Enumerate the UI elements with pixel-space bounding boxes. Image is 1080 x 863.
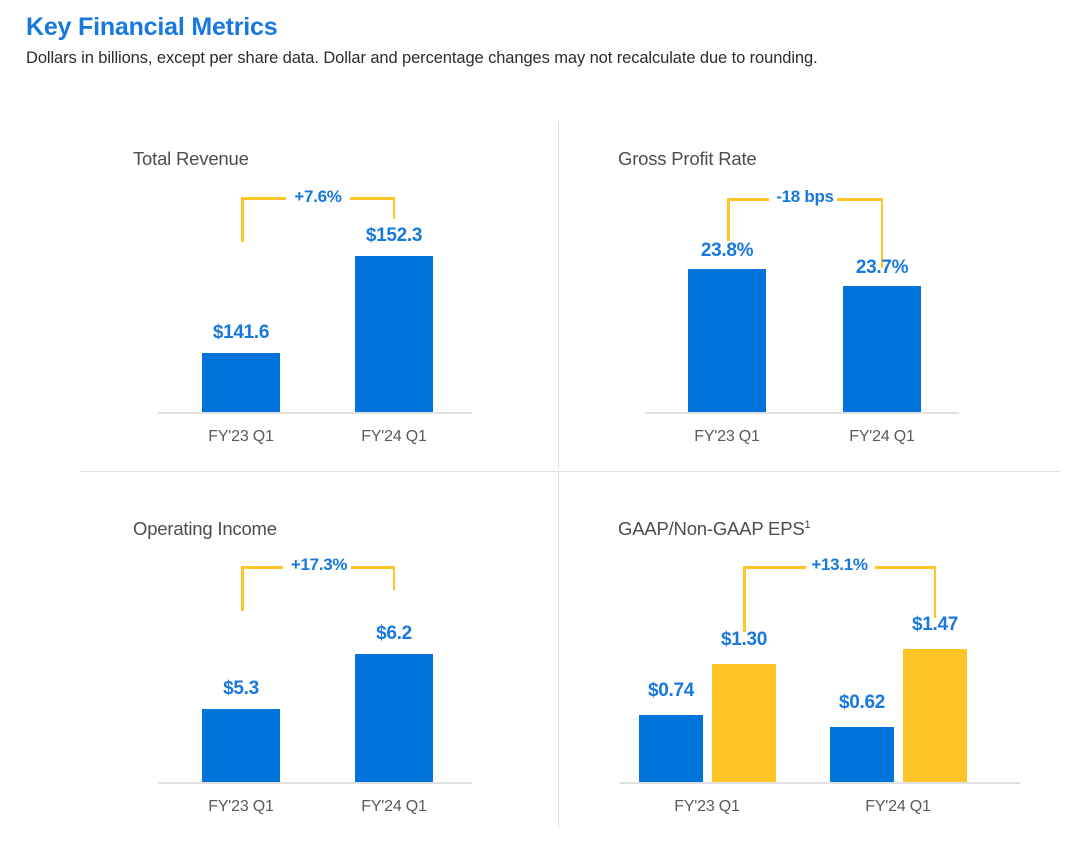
bracket-leg-right (393, 197, 396, 219)
chart-title-total-revenue: Total Revenue (133, 148, 249, 170)
divider-vertical-bottom (558, 472, 559, 827)
page-title: Key Financial Metrics (26, 14, 1056, 42)
bar-total-revenue-fy24 (355, 256, 433, 412)
bracket-segment-left (743, 566, 806, 569)
bar-non-gaap-eps-fy24 (903, 649, 967, 782)
bar-value-gaap-eps-fy24: $0.62 (814, 692, 910, 714)
change-label-gaap-non-gaap-eps: +13.1% (798, 555, 881, 575)
bracket-leg-right (393, 566, 396, 590)
bar-operating-income-fy23 (202, 709, 280, 782)
bracket-leg-left (241, 197, 244, 242)
bracket-leg-left (241, 566, 244, 611)
x-label-gross-profit-rate-fy23: FY'23 Q1 (667, 428, 787, 446)
x-label-gaap-non-gaap-eps-fy23: FY'23 Q1 (647, 798, 767, 816)
footnote-marker: 1 (804, 519, 810, 531)
change-label-total-revenue: +7.6% (278, 187, 358, 207)
bar-value-gaap-eps-fy23: $0.74 (623, 680, 719, 702)
chart-title-gaap-non-gaap-eps: GAAP/Non-GAAP EPS1 (618, 518, 810, 540)
bracket-leg-left (727, 198, 730, 241)
bar-gaap-eps-fy23 (639, 715, 703, 782)
x-label-gross-profit-rate-fy24: FY'24 Q1 (822, 428, 942, 446)
axis-baseline (158, 412, 472, 414)
axis-baseline (620, 782, 1020, 784)
bar-value-gross-profit-rate-fy23: 23.8% (679, 240, 775, 262)
change-label-gross-profit-rate: -18 bps (761, 187, 849, 207)
bracket-segment-right (875, 566, 936, 569)
divider-horizontal (80, 471, 1060, 472)
bar-value-gross-profit-rate-fy24: 23.7% (834, 257, 930, 279)
bar-value-operating-income-fy24: $6.2 (346, 623, 442, 645)
page-header: Key Financial Metrics Dollars in billion… (26, 14, 1056, 68)
bar-operating-income-fy24 (355, 654, 433, 782)
axis-baseline (645, 412, 959, 414)
chart-title-gross-profit-rate: Gross Profit Rate (618, 148, 756, 170)
bar-value-non-gaap-eps-fy23: $1.30 (696, 629, 792, 651)
bar-value-total-revenue-fy24: $152.3 (346, 225, 442, 247)
chart-title-operating-income: Operating Income (133, 518, 277, 540)
divider-vertical-top (558, 122, 559, 468)
bar-gaap-eps-fy24 (830, 727, 894, 782)
bar-non-gaap-eps-fy23 (712, 664, 776, 782)
bar-value-non-gaap-eps-fy24: $1.47 (887, 614, 983, 636)
x-label-operating-income-fy24: FY'24 Q1 (334, 798, 454, 816)
bar-gross-profit-rate-fy24 (843, 286, 921, 412)
bar-total-revenue-fy23 (202, 353, 280, 412)
chart-title-text: GAAP/Non-GAAP EPS (618, 518, 804, 539)
bar-gross-profit-rate-fy23 (688, 269, 766, 412)
axis-baseline (158, 782, 472, 784)
page-subtitle: Dollars in billions, except per share da… (26, 49, 1056, 69)
bar-value-total-revenue-fy23: $141.6 (193, 322, 289, 344)
plot-area-operating-income (158, 622, 472, 782)
x-label-total-revenue-fy24: FY'24 Q1 (334, 428, 454, 446)
change-label-operating-income: +17.3% (275, 555, 363, 575)
x-label-operating-income-fy23: FY'23 Q1 (181, 798, 301, 816)
x-label-total-revenue-fy23: FY'23 Q1 (181, 428, 301, 446)
bar-value-operating-income-fy23: $5.3 (193, 678, 289, 700)
x-label-gaap-non-gaap-eps-fy24: FY'24 Q1 (838, 798, 958, 816)
bracket-leg-right (934, 566, 937, 618)
